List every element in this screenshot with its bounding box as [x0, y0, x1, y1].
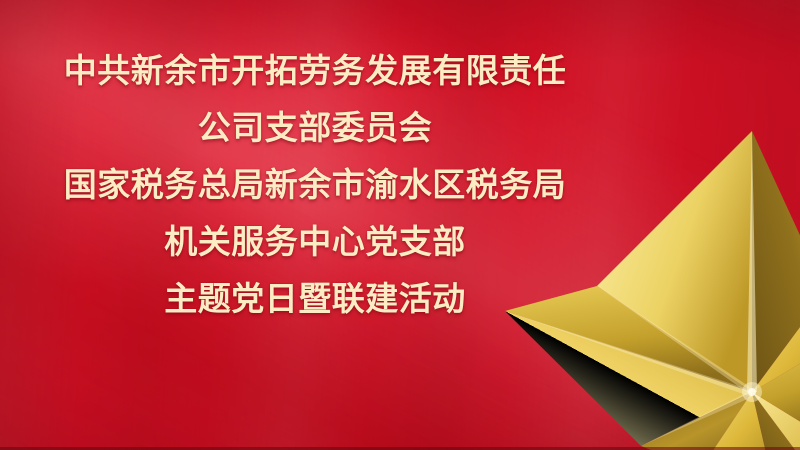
- headline-line-4: 机关服务中心党支部: [0, 213, 630, 270]
- poster-canvas: 中共新余市开拓劳务发展有限责任 公司支部委员会 国家税务总局新余市渝水区税务局 …: [0, 0, 800, 450]
- headline-block: 中共新余市开拓劳务发展有限责任 公司支部委员会 国家税务总局新余市渝水区税务局 …: [0, 42, 630, 327]
- headline-line-5: 主题党日暨联建活动: [0, 270, 630, 327]
- headline-line-2: 公司支部委员会: [0, 99, 630, 156]
- headline-line-3: 国家税务总局新余市渝水区税务局: [0, 156, 630, 213]
- headline-line-1: 中共新余市开拓劳务发展有限责任: [0, 42, 630, 99]
